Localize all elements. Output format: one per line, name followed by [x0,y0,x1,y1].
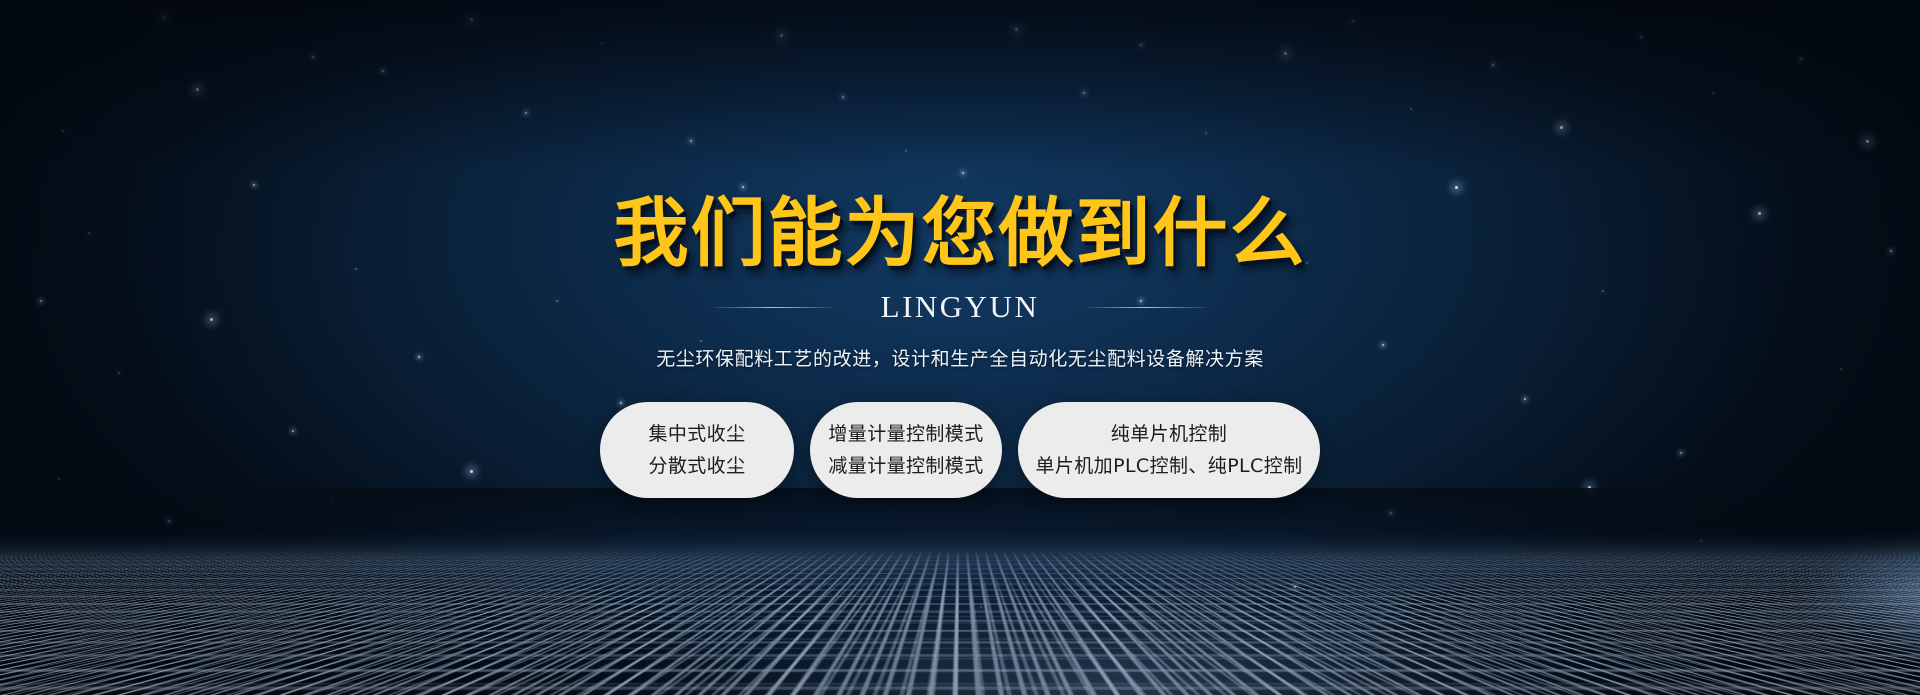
feature-card-controller-type[interactable]: 纯单片机控制 单片机加PLC控制、纯PLC控制 [1018,402,1320,498]
card-line: 集中式收尘 [648,425,745,444]
page-title: 我们能为您做到什么 [613,196,1306,271]
feature-card-list: 集中式收尘 分散式收尘 增量计量控制模式 减量计量控制模式 纯单片机控制 单片机… [600,402,1320,498]
card-line: 增量计量控制模式 [828,425,983,444]
divider-line-right [1085,307,1207,308]
feature-card-metering-control-mode[interactable]: 增量计量控制模式 减量计量控制模式 [810,402,1002,498]
card-line: 单片机加PLC控制、纯PLC控制 [1035,457,1302,476]
card-line: 减量计量控制模式 [828,457,983,476]
banner-content: 我们能为您做到什么 LINGYUN 无尘环保配料工艺的改进，设计和生产全自动化无… [0,0,1920,695]
page-description: 无尘环保配料工艺的改进，设计和生产全自动化无尘配料设备解决方案 [656,344,1264,371]
card-line: 纯单片机控制 [1111,425,1227,444]
feature-card-dust-collection[interactable]: 集中式收尘 分散式收尘 [600,402,794,498]
brand-subtitle-row: LINGYUN [713,289,1208,325]
card-line: 分散式收尘 [648,457,745,476]
brand-name: LINGYUN [881,289,1040,325]
hero-banner: 我们能为您做到什么 LINGYUN 无尘环保配料工艺的改进，设计和生产全自动化无… [0,0,1920,695]
divider-line-left [713,307,835,308]
